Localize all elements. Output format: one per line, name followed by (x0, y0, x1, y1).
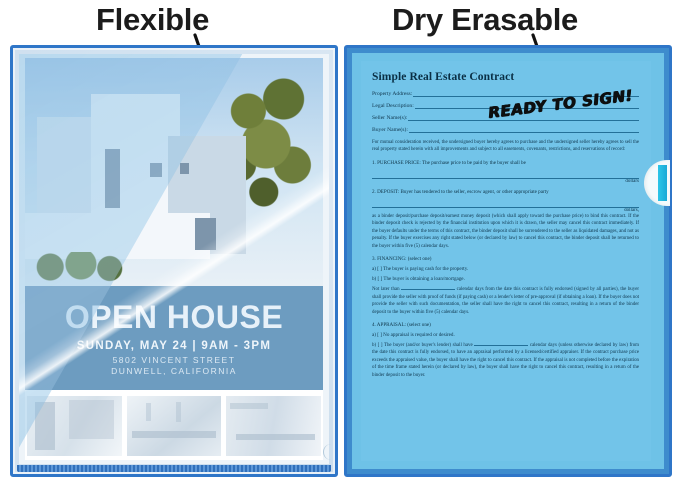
product-comparison-image: Flexible Dry Erasable (0, 0, 679, 482)
clause-3-body: Not later than calendar days from the da… (372, 286, 639, 316)
clause-2-body: as a binder deposit/purchase deposit/ear… (372, 213, 639, 250)
field-rule (409, 127, 639, 133)
open-house-datetime: SUNDAY, MAY 24 | 9AM - 3PM (77, 340, 271, 352)
photo-window-tall (105, 149, 120, 208)
sleeve-corner-notch (323, 444, 333, 460)
clause-4-option-a: a) [ ] No appraisal is required or desir… (372, 332, 639, 338)
left-product-panel: OPEN HOUSE SUNDAY, MAY 24 | 9AM - 3PM 58… (10, 45, 338, 477)
photo-hedge (31, 252, 127, 282)
flyer-thumbnail-kitchen (127, 396, 222, 456)
field-buyer-names: Buyer Name(s): (372, 127, 639, 133)
open-house-city: DUNWELL, CALIFORNIA (111, 366, 237, 376)
clause-1-blank (372, 171, 639, 179)
flyer-thumbnail-strip (25, 390, 323, 460)
open-house-title: OPEN HOUSE (65, 301, 283, 333)
right-product-panel: Simple Real Estate Contract Property Add… (344, 45, 672, 477)
photo-window-small-b (180, 163, 189, 174)
clause-4-inline-blank (474, 345, 528, 346)
photo-window-small-c (195, 218, 216, 250)
open-house-info-band: OPEN HOUSE SUNDAY, MAY 24 | 9AM - 3PM 58… (25, 286, 323, 390)
clause-3-option-a: a) [ ] The buyer is paying cash for the … (372, 266, 639, 272)
contract-title: Simple Real Estate Contract (372, 71, 639, 83)
clause-3-inline-blank (401, 289, 455, 290)
clause-4-option-b: b) [ ] The buyer (and/or buyer's lender)… (372, 342, 639, 379)
clause-1-purchase-price: 1. PURCHASE PRICE: The purchase price to… (372, 160, 639, 166)
clause-3-option-b: b) [ ] The buyer is obtaining a loan/mor… (372, 276, 639, 282)
clause-2-blank (372, 200, 639, 208)
open-house-flyer: OPEN HOUSE SUNDAY, MAY 24 | 9AM - 3PM 58… (25, 58, 323, 460)
flexible-sleeve-frame: OPEN HOUSE SUNDAY, MAY 24 | 9AM - 3PM 58… (10, 45, 338, 477)
contract-intro-paragraph: For mutual consideration received, the u… (372, 139, 639, 154)
flyer-hero-photo (25, 58, 323, 286)
flexible-sleeve-interior: OPEN HOUSE SUNDAY, MAY 24 | 9AM - 3PM 58… (19, 54, 329, 464)
clause-2-deposit: 2. DEPOSIT: Buyer has tendered to the se… (372, 189, 639, 195)
clause-4-appraisal: 4. APPRAISAL: (select one) (372, 322, 639, 328)
flyer-thumbnail-entry (27, 396, 122, 456)
clause-1-unit: dollars (372, 179, 639, 184)
open-house-street: 5802 VINCENT STREET (113, 355, 236, 365)
photo-window-small-a (150, 163, 162, 177)
sleeve-ribbed-bottom-edge (17, 465, 331, 472)
flyer-thumbnail-stairs (226, 396, 321, 456)
clause-3-financing: 3. FINANCING: (select one) (372, 256, 639, 262)
real-estate-contract-document: Simple Real Estate Contract Property Add… (361, 61, 651, 461)
sleeve-thumb-notch-accent (658, 165, 667, 201)
dry-erase-sleeve-interior: Simple Real Estate Contract Property Add… (352, 53, 664, 469)
dry-erase-sleeve-frame: Simple Real Estate Contract Property Add… (344, 45, 672, 477)
